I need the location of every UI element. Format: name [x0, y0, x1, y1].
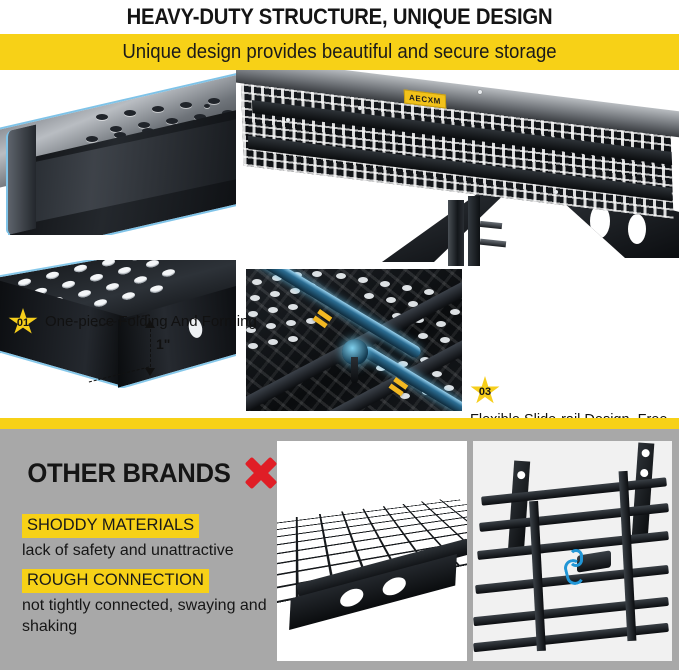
blue-hook-icon	[569, 549, 583, 567]
callout-text: One-piece Folding And Forming	[45, 308, 257, 331]
header-subtitle: Unique design provides beautiful and sec…	[122, 41, 556, 64]
callout-number: 01	[17, 317, 29, 329]
page-title: HEAVY-DUTY STRUCTURE, UNIQUE DESIGN	[27, 0, 652, 34]
feature-section: AECXM	[0, 70, 679, 418]
competitor-wire-rack-image	[277, 441, 467, 661]
dimension-label: 1"	[156, 336, 170, 352]
comparison-title: OTHER BRANDS	[27, 458, 230, 489]
comparison-heading: OTHER BRANDS	[22, 457, 278, 489]
star-badge-icon: 03	[470, 376, 500, 406]
comparison-point-description: not tightly connected, swaying and shaki…	[22, 596, 272, 638]
channel-lip	[6, 125, 36, 235]
callout-number: 03	[479, 386, 491, 398]
product-hero-image: AECXM	[232, 70, 679, 266]
callout-01: 01 One-piece Folding And Forming	[8, 308, 257, 336]
wall-bracket	[508, 461, 530, 554]
shelf-post	[448, 200, 464, 266]
star-badge-icon: 01	[8, 308, 38, 336]
rail-bolt	[342, 339, 368, 365]
feature-image-one-piece	[0, 70, 236, 235]
feature-image-slide-rail	[243, 266, 465, 414]
wall-bracket	[632, 443, 655, 540]
section-divider	[0, 418, 679, 429]
comparison-point-2: ROUGH CONNECTION not tightly connected, …	[22, 569, 272, 638]
comparison-point-label: ROUGH CONNECTION	[22, 569, 209, 593]
comparison-point-label: SHODDY MATERIALS	[22, 514, 199, 538]
comparison-point-1: SHODDY MATERIALS lack of safety and unat…	[22, 514, 272, 562]
comparison-section: OTHER BRANDS SHODDY MATERIALS lack of sa…	[0, 429, 679, 670]
shelf-post-secondary	[468, 196, 480, 266]
red-x-icon	[244, 457, 278, 489]
competitor-bracket-rack-image	[473, 441, 672, 661]
comparison-point-description: lack of safety and unattractive	[22, 541, 272, 562]
header-banner: Unique design provides beautiful and sec…	[0, 34, 679, 70]
